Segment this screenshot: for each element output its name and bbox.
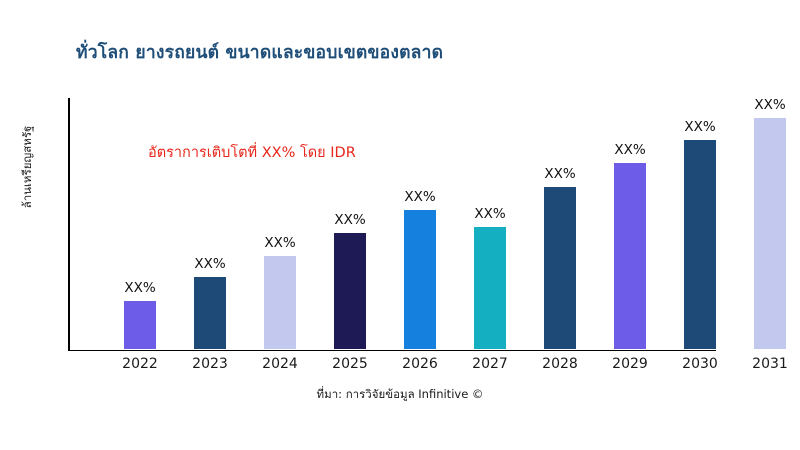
x-axis-tick-label: 2029 [595,356,665,372]
chart-title: ทั่วโลก ยางรถยนต์ ขนาดและขอบเขตของตลาด [76,38,443,66]
plot-area: XX%XX%XX%XX%XX%XX%XX%XX%XX%XX% 202220232… [68,98,800,351]
bar-value-label: XX% [665,119,735,135]
x-axis-line [68,350,716,352]
bar-value-label: XX% [385,189,455,205]
bar[interactable] [124,301,156,349]
y-axis-label: ล้านเหรียญสหรัฐ [19,87,37,247]
bar[interactable] [684,140,716,349]
bar-group: XX% [595,96,665,349]
bar-group: XX% [665,96,735,349]
bar-group: XX% [315,96,385,349]
x-axis-tick-label: 2031 [735,356,800,372]
x-axis-tick-label: 2027 [455,356,525,372]
bar-group: XX% [175,96,245,349]
bar-group: XX% [455,96,525,349]
bar-group: XX% [245,96,315,349]
x-axis-tick-label: 2030 [665,356,735,372]
bar[interactable] [544,187,576,349]
bar-chart: ทั่วโลก ยางรถยนต์ ขนาดและขอบเขตของตลาด ล… [0,0,800,450]
bar[interactable] [614,163,646,349]
growth-rate-annotation: อัตราการเติบโตที่ XX% โดย IDR [148,141,356,164]
bar-value-label: XX% [245,235,315,251]
bar-value-label: XX% [735,97,800,113]
source-note: ที่มา: การวิจัยข้อมูล Infinitive © [0,386,800,404]
x-axis-tick-label: 2026 [385,356,455,372]
bar[interactable] [194,277,226,349]
bar-value-label: XX% [105,280,175,296]
bar-value-label: XX% [525,166,595,182]
x-axis-tick-label: 2023 [175,356,245,372]
x-axis-tick-label: 2022 [105,356,175,372]
bar-value-label: XX% [315,212,385,228]
bar-group: XX% [105,96,175,349]
bar-value-label: XX% [595,142,665,158]
x-axis-tick-label: 2024 [245,356,315,372]
bar[interactable] [334,233,366,349]
bar-value-label: XX% [175,256,245,272]
bar-group: XX% [385,96,455,349]
y-axis-line [68,98,70,351]
x-axis-tick-label: 2028 [525,356,595,372]
bar[interactable] [404,210,436,349]
bar[interactable] [474,227,506,349]
x-axis-tick-label: 2025 [315,356,385,372]
bar[interactable] [264,256,296,349]
bar-group: XX% [525,96,595,349]
bar[interactable] [754,118,786,349]
bar-value-label: XX% [455,206,525,222]
bar-group: XX% [735,96,800,349]
